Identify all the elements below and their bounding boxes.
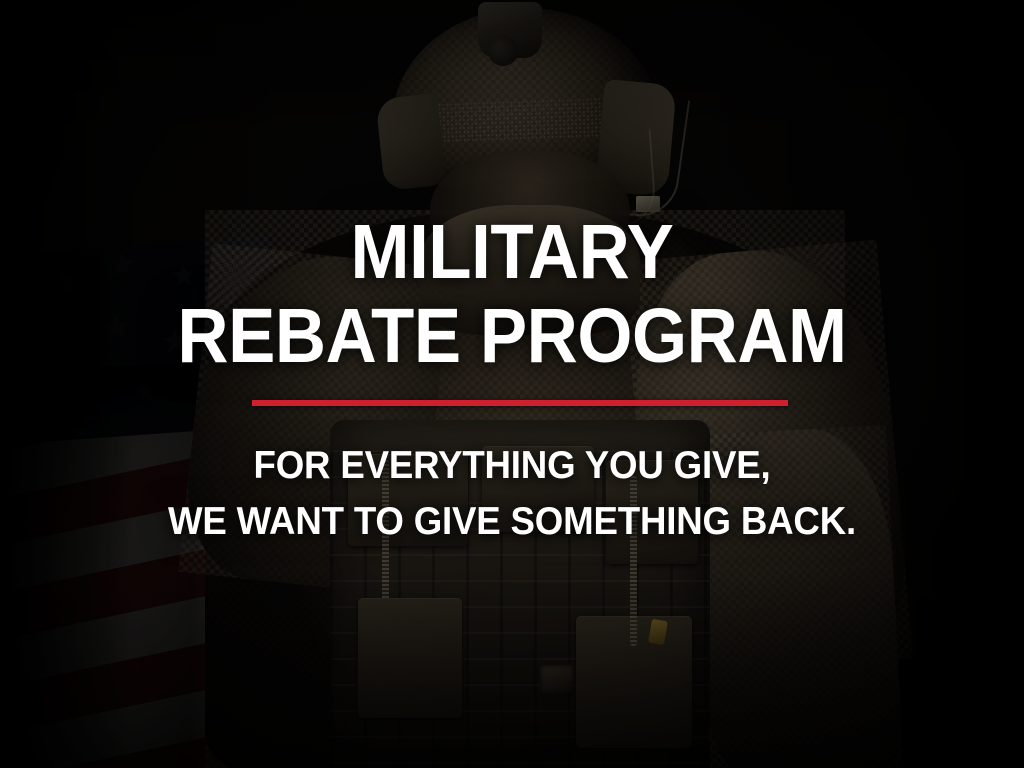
subtitle-line-1: FOR EVERYTHING YOU GIVE, <box>31 446 994 487</box>
page-title-line-2: REBATE PROGRAM <box>41 300 983 373</box>
page-title-line-1: MILITARY <box>41 216 983 289</box>
red-divider-rule <box>252 400 788 406</box>
poster-content: MILITARY REBATE PROGRAM FOR EVERYTHING Y… <box>0 0 1024 768</box>
military-rebate-poster: MILITARY REBATE PROGRAM FOR EVERYTHING Y… <box>0 0 1024 768</box>
subtitle-line-2: WE WANT TO GIVE SOMETHING BACK. <box>31 502 994 543</box>
